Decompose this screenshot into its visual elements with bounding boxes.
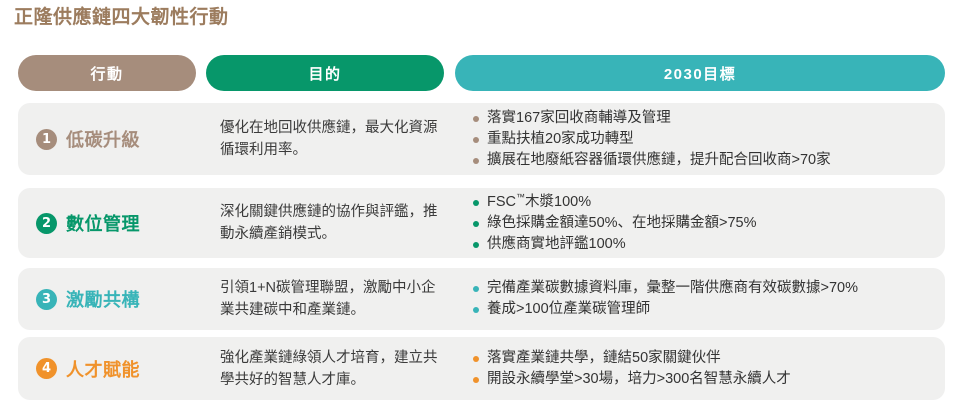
table-header-row: 行動 目的 2030目標: [0, 55, 961, 91]
table-row: 4人才賦能強化產業鏈綠領人才培育，建立共學共好的智慧人才庫。落實產業鏈共學，鏈結…: [18, 337, 945, 400]
bullet-dot-icon: [473, 158, 479, 164]
action-cell: 1低碳升級: [18, 103, 208, 175]
action-label: 激勵共構: [66, 286, 140, 312]
header-pill-action: 行動: [18, 55, 196, 91]
header-pill-purpose: 目的: [206, 55, 444, 91]
target-bullet-item: 供應商實地評鑑100%: [473, 234, 945, 255]
purpose-cell: 引領1+N碳管理聯盟，激勵中小企業共建碳中和產業鏈。: [208, 268, 448, 330]
purpose-text: 深化關鍵供應鏈的協作與評鑑，推動永續產銷模式。: [220, 201, 440, 245]
target-bullet-text: 供應商實地評鑑100%: [487, 236, 626, 252]
bullet-dot-icon: [473, 356, 479, 362]
target-bullet-text: FSC™木漿100%: [487, 194, 591, 210]
row-number-badge: 3: [36, 289, 57, 310]
page-title: 正隆供應鏈四大韌性行動: [14, 5, 229, 31]
target-bullet-item: FSC™木漿100%: [473, 192, 945, 213]
target-bullet-text: 綠色採購金額達50%、在地採購金額>75%: [487, 215, 757, 231]
target-bullet-text: 落實產業鏈共學，鏈結50家關鍵伙伴: [487, 350, 721, 366]
bullet-dot-icon: [473, 200, 479, 206]
purpose-text: 優化在地回收供應鏈，最大化資源循環利用率。: [220, 117, 440, 161]
row-number-badge: 2: [36, 213, 57, 234]
action-label: 人才賦能: [66, 356, 140, 382]
purpose-cell: 強化產業鏈綠領人才培育，建立共學共好的智慧人才庫。: [208, 337, 448, 400]
target-bullet-text: 落實167家回收商輔導及管理: [487, 110, 671, 126]
target-bullet-item: 擴展在地廢紙容器循環供應鏈，提升配合回收商>70家: [473, 150, 945, 171]
bullet-dot-icon: [473, 307, 479, 313]
action-label: 低碳升級: [66, 126, 140, 152]
row-number-badge: 4: [36, 358, 57, 379]
target-bullet-item: 完備產業碳數據資料庫，彙整一階供應商有效碳數據>70%: [473, 278, 945, 299]
target-bullet-text: 擴展在地廢紙容器循環供應鏈，提升配合回收商>70家: [487, 152, 831, 168]
header-pill-target: 2030目標: [455, 55, 945, 91]
target-bullet-item: 綠色採購金額達50%、在地採購金額>75%: [473, 213, 945, 234]
target-bullet-text: 開設永續學堂>30場，培力>300名智慧永續人才: [487, 371, 791, 387]
target-bullet-text: 養成>100位產業碳管理師: [487, 301, 650, 317]
target-bullet-item: 養成>100位產業碳管理師: [473, 299, 945, 320]
target-bullet-item: 落實產業鏈共學，鏈結50家關鍵伙伴: [473, 348, 945, 369]
target-bullet-item: 重點扶植20家成功轉型: [473, 129, 945, 150]
target-bullet-text: 完備產業碳數據資料庫，彙整一階供應商有效碳數據>70%: [487, 280, 858, 296]
bullet-dot-icon: [473, 116, 479, 122]
bullet-dot-icon: [473, 242, 479, 248]
target-bullet-text: 重點扶植20家成功轉型: [487, 131, 634, 147]
target-cell: FSC™木漿100%綠色採購金額達50%、在地採購金額>75%供應商實地評鑑10…: [455, 188, 945, 258]
action-label: 數位管理: [66, 210, 140, 236]
bullet-dot-icon: [473, 137, 479, 143]
bullet-dot-icon: [473, 221, 479, 227]
row-number-badge: 1: [36, 129, 57, 150]
purpose-cell: 深化關鍵供應鏈的協作與評鑑，推動永續產銷模式。: [208, 188, 448, 258]
bullet-dot-icon: [473, 377, 479, 383]
purpose-text: 引領1+N碳管理聯盟，激勵中小企業共建碳中和產業鏈。: [220, 277, 440, 321]
target-cell: 落實167家回收商輔導及管理重點扶植20家成功轉型擴展在地廢紙容器循環供應鏈，提…: [455, 103, 945, 175]
target-bullet-item: 開設永續學堂>30場，培力>300名智慧永續人才: [473, 369, 945, 390]
purpose-cell: 優化在地回收供應鏈，最大化資源循環利用率。: [208, 103, 448, 175]
target-cell: 落實產業鏈共學，鏈結50家關鍵伙伴開設永續學堂>30場，培力>300名智慧永續人…: [455, 337, 945, 400]
action-cell: 3激勵共構: [18, 268, 208, 330]
action-cell: 4人才賦能: [18, 337, 208, 400]
purpose-text: 強化產業鏈綠領人才培育，建立共學共好的智慧人才庫。: [220, 347, 440, 391]
table-row: 1低碳升級優化在地回收供應鏈，最大化資源循環利用率。落實167家回收商輔導及管理…: [18, 103, 945, 175]
bullet-dot-icon: [473, 286, 479, 292]
table-row: 2數位管理深化關鍵供應鏈的協作與評鑑，推動永續產銷模式。FSC™木漿100%綠色…: [18, 188, 945, 258]
table-row: 3激勵共構引領1+N碳管理聯盟，激勵中小企業共建碳中和產業鏈。完備產業碳數據資料…: [18, 268, 945, 330]
action-cell: 2數位管理: [18, 188, 208, 258]
target-cell: 完備產業碳數據資料庫，彙整一階供應商有效碳數據>70%養成>100位產業碳管理師: [455, 268, 945, 330]
target-bullet-item: 落實167家回收商輔導及管理: [473, 108, 945, 129]
